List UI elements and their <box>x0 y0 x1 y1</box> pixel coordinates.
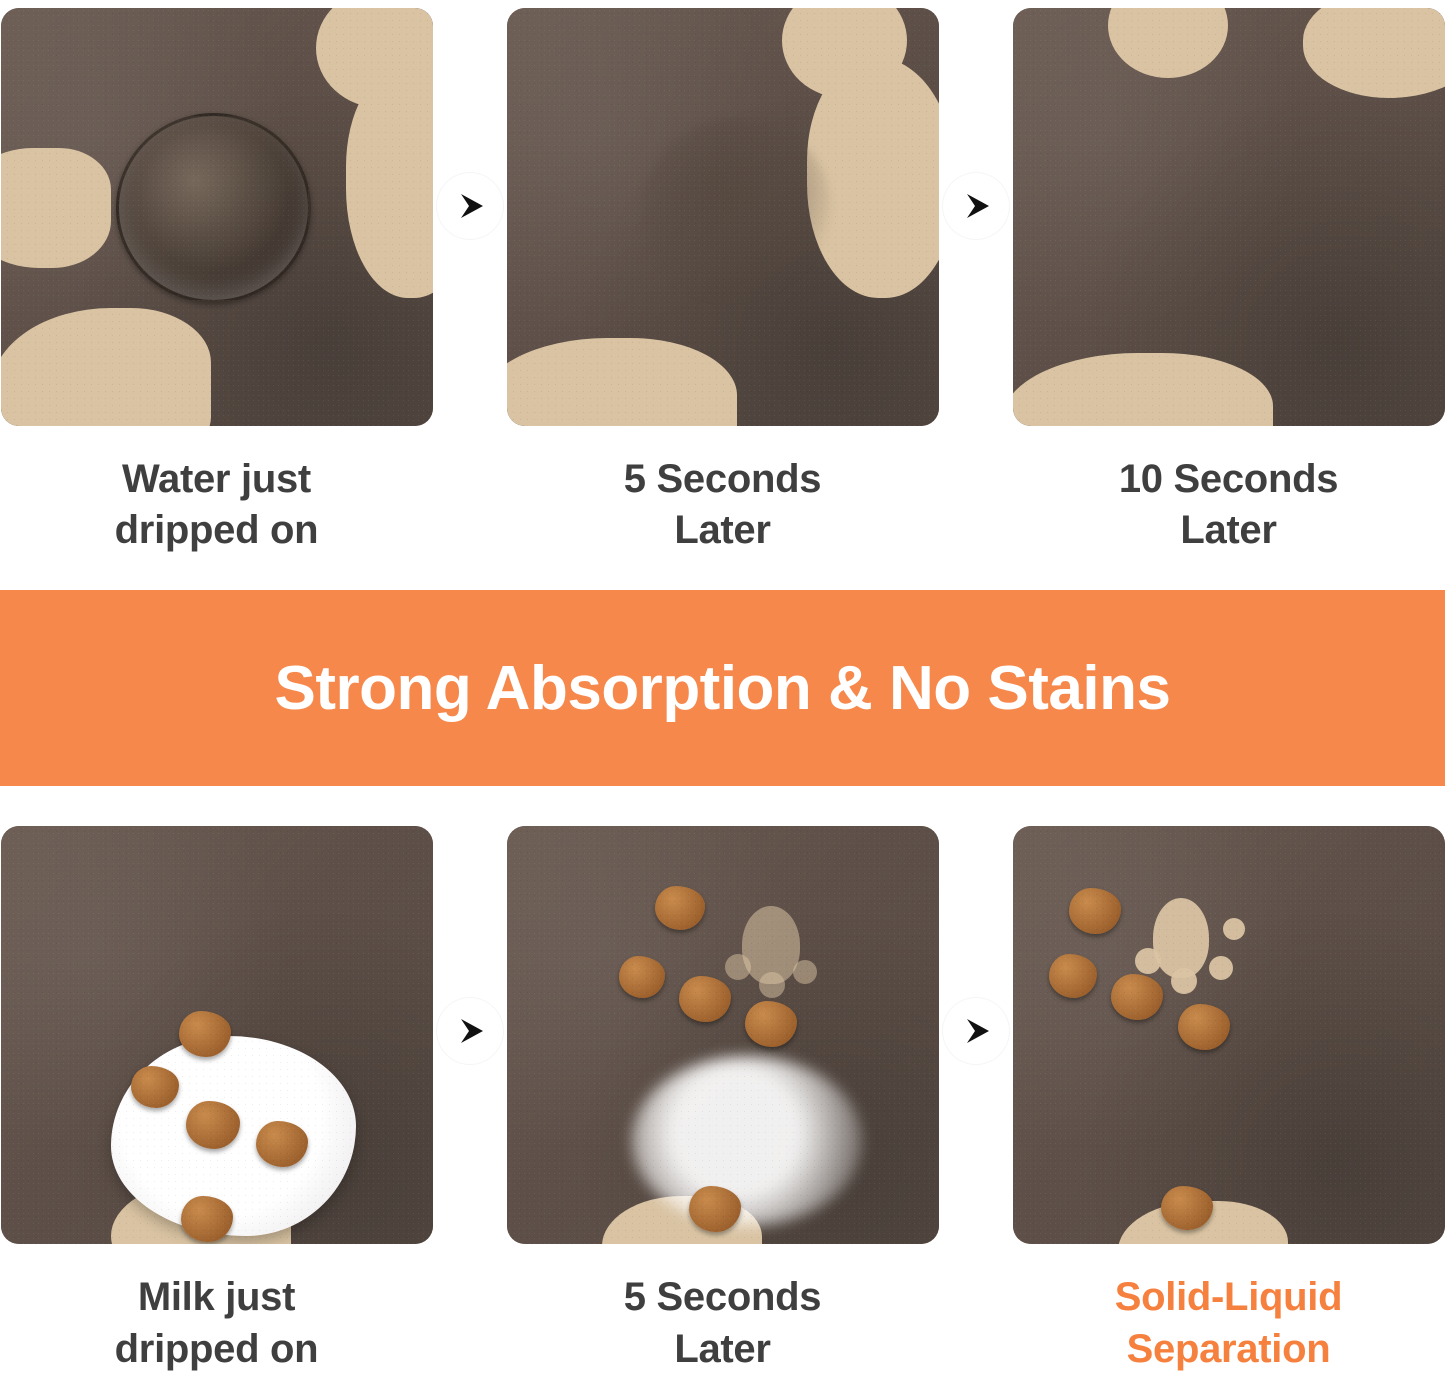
photo-water-5s <box>507 8 939 426</box>
caption-milk-5s: 5 Seconds Later <box>507 1244 939 1374</box>
photo-water-10s <box>1013 8 1445 426</box>
arrow-slot <box>433 8 507 239</box>
water-absorption-sequence: Water just dripped on 5 Seconds <box>0 0 1445 556</box>
sequence-step: Milk just dripped on <box>1 826 433 1374</box>
chevron-right-icon <box>943 173 1009 239</box>
caption-water-fresh: Water just dripped on <box>1 426 433 556</box>
milk-absorption-sequence: Milk just dripped on <box>0 786 1445 1374</box>
sequence-step: 5 Seconds Later <box>507 826 939 1374</box>
headline-text: Strong Absorption & No Stains <box>275 653 1171 724</box>
chevron-right-icon <box>437 998 503 1064</box>
caption-line: Water just <box>1 454 433 505</box>
caption-line: 5 Seconds <box>507 1272 939 1323</box>
arrow-slot <box>939 826 1013 1064</box>
photo-milk-5s <box>507 826 939 1244</box>
caption-milk-separated: Solid-Liquid Separation <box>1013 1244 1445 1374</box>
sequence-step: 10 Seconds Later <box>1013 8 1445 556</box>
caption-line: Later <box>507 1324 939 1375</box>
caption-line: Separation <box>1013 1324 1445 1375</box>
chevron-right-icon <box>437 173 503 239</box>
chevron-right-icon <box>943 998 1009 1064</box>
caption-line: dripped on <box>1 505 433 556</box>
caption-line: Milk just <box>1 1272 433 1323</box>
arrow-slot <box>433 826 507 1064</box>
sequence-step: Water just dripped on <box>1 8 433 556</box>
caption-water-10s: 10 Seconds Later <box>1013 426 1445 556</box>
product-infographic: Water just dripped on 5 Seconds <box>0 0 1445 1394</box>
caption-water-5s: 5 Seconds Later <box>507 426 939 556</box>
caption-milk-fresh: Milk just dripped on <box>1 1244 433 1374</box>
caption-line: dripped on <box>1 1324 433 1375</box>
sequence-step: 5 Seconds Later <box>507 8 939 556</box>
caption-line: 5 Seconds <box>507 454 939 505</box>
photo-milk-separated <box>1013 826 1445 1244</box>
photo-water-fresh <box>1 8 433 426</box>
sequence-step: Solid-Liquid Separation <box>1013 826 1445 1374</box>
caption-line: Solid-Liquid <box>1013 1272 1445 1323</box>
caption-line: Later <box>1013 505 1445 556</box>
headline-banner: Strong Absorption & No Stains <box>0 590 1445 786</box>
caption-line: Later <box>507 505 939 556</box>
arrow-slot <box>939 8 1013 239</box>
photo-milk-fresh <box>1 826 433 1244</box>
caption-line: 10 Seconds <box>1013 454 1445 505</box>
